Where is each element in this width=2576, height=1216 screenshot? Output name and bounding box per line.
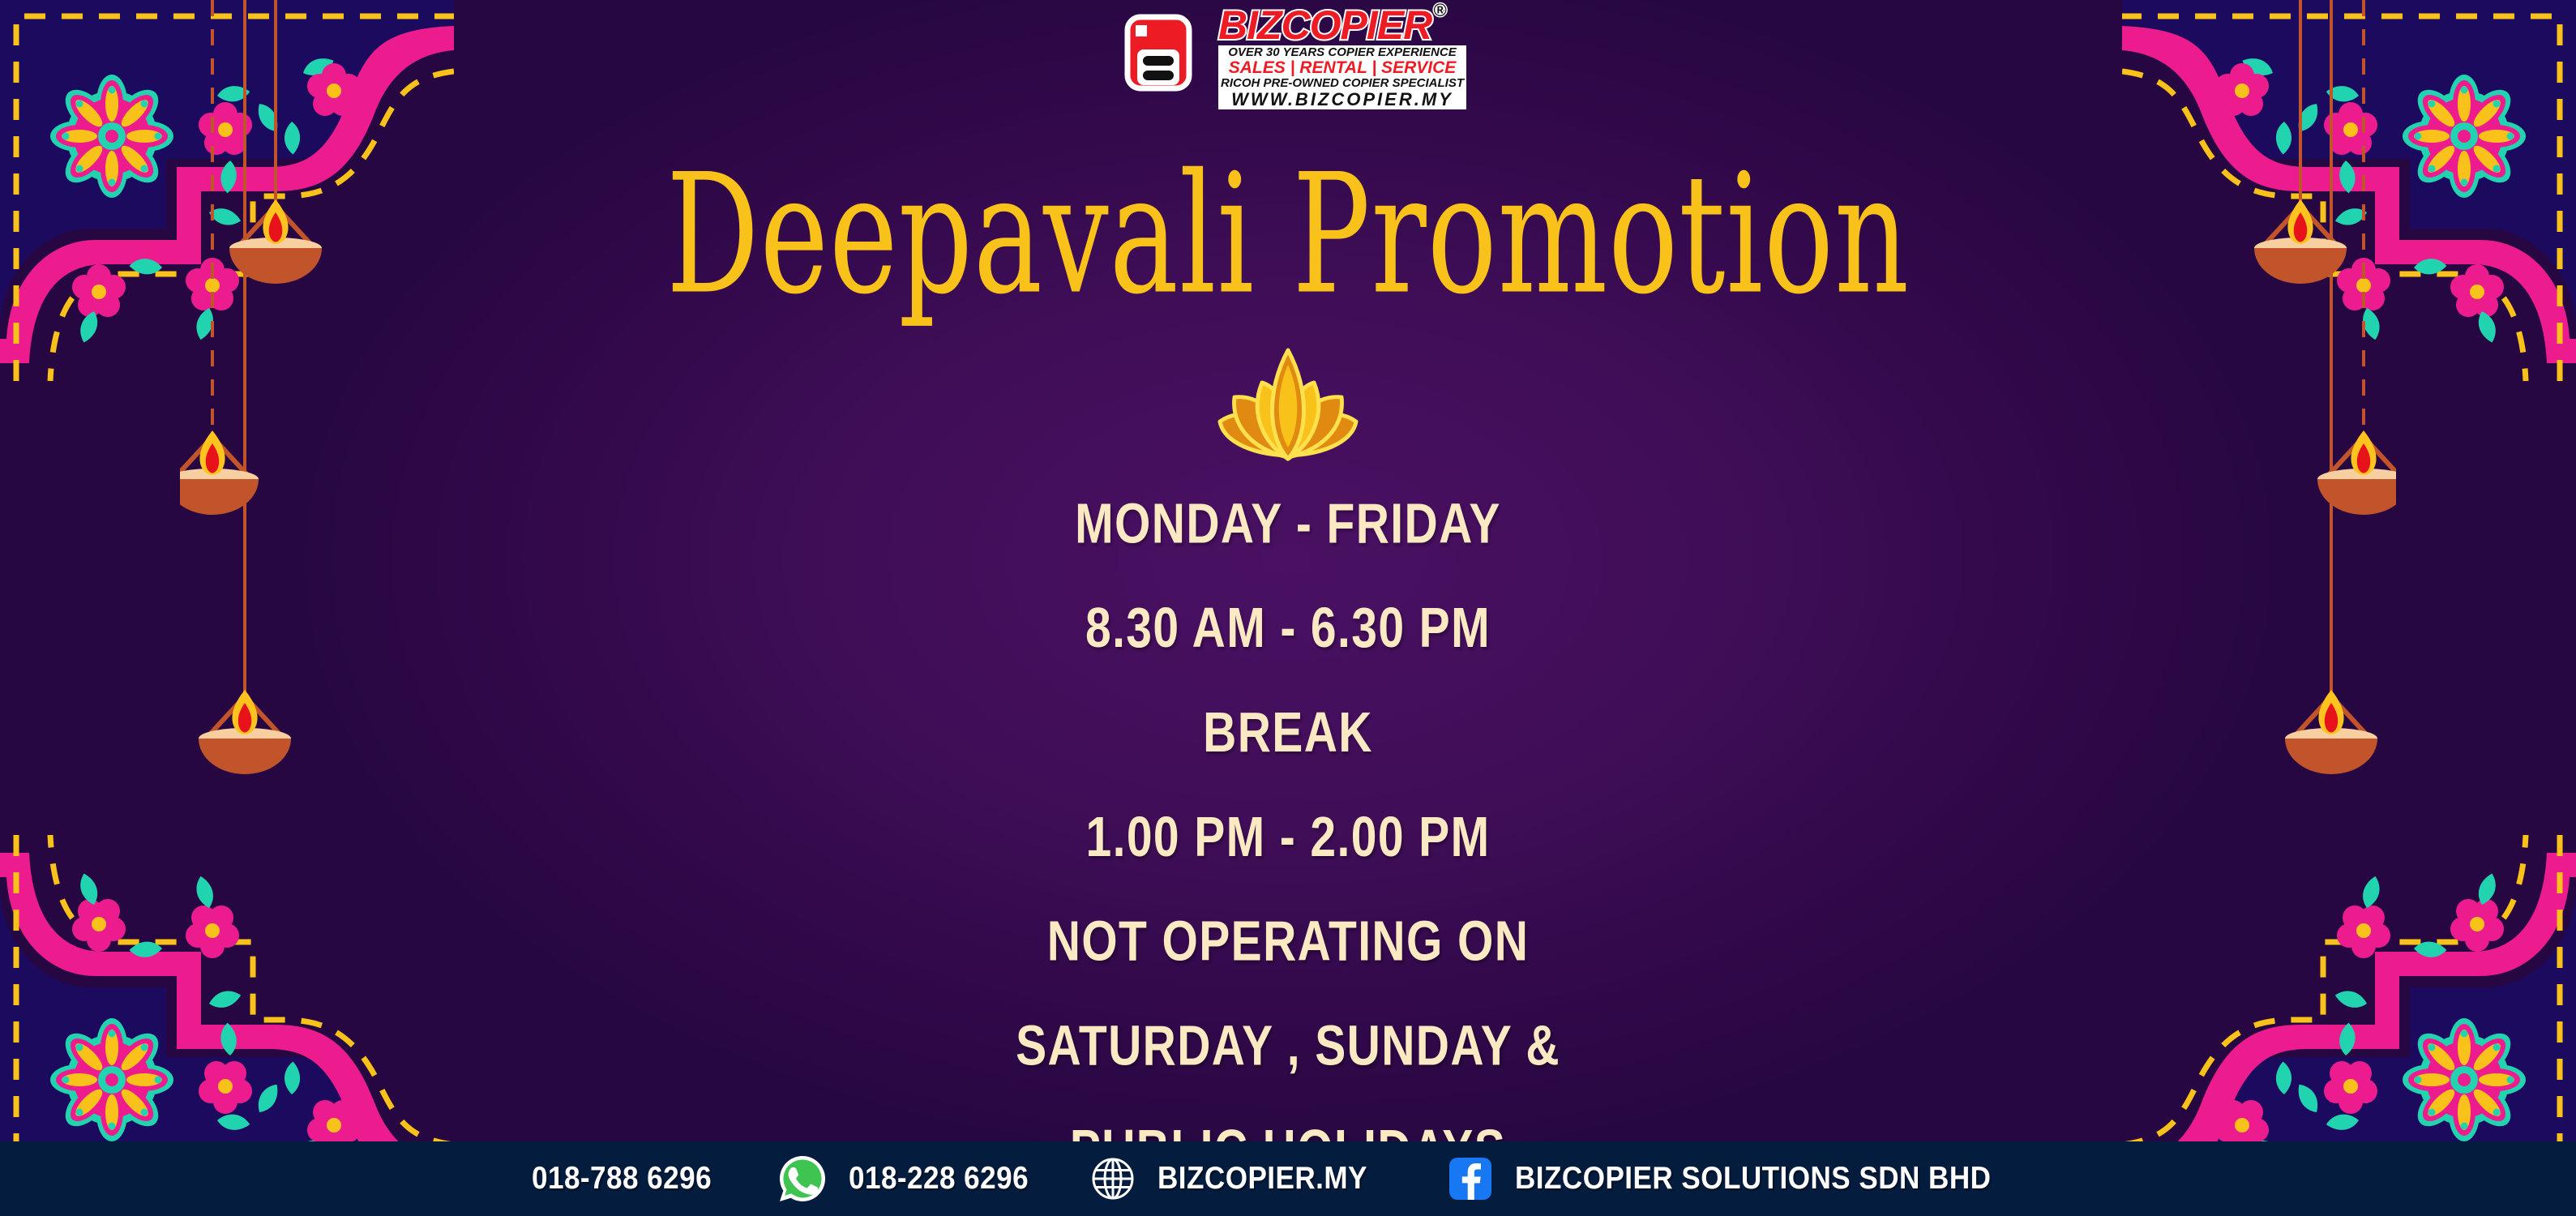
website-contact[interactable]: BIZCOPIER.MY xyxy=(1089,1155,1391,1202)
logo-tagline-specialist: RICOH PRE-OWNED COPIER SPECIALIST xyxy=(1218,76,1466,90)
deepavali-promotion-banner: BIZCOPIER ® OVER 30 YEARS COPIER EXPERIE… xyxy=(0,0,2576,1216)
lotus-icon xyxy=(1215,344,1361,465)
logo-brand-wordmark: BIZCOPIER ® xyxy=(1218,5,1466,45)
logo-website: WWW.BIZCOPIER.MY xyxy=(1218,90,1466,109)
whatsapp-icon xyxy=(777,1154,828,1204)
info-line-closed-intro: NOT OPERATING ON xyxy=(103,889,2473,994)
operating-hours-block: MONDAY - FRIDAY 8.30 AM - 6.30 PM BREAK … xyxy=(103,472,2473,1203)
info-line-break-hours: 1.00 PM - 2.00 PM xyxy=(103,785,2473,889)
facebook-contact[interactable]: BIZCOPIER SOLUTIONS SDN BHD xyxy=(1447,1155,2044,1202)
phone-contact[interactable]: 018-788 6296 xyxy=(532,1161,732,1197)
page-title: Deepavali Promotion xyxy=(77,152,2498,318)
copier-icon xyxy=(1110,9,1207,106)
info-line-closed-days: SATURDAY , SUNDAY & xyxy=(103,994,2473,1098)
bizcopier-logo[interactable]: BIZCOPIER ® OVER 30 YEARS COPIER EXPERIE… xyxy=(1110,5,1466,109)
info-line-weekdays: MONDAY - FRIDAY xyxy=(103,472,2473,576)
contact-footer-bar: 018-788 6296 018-228 6296 xyxy=(0,1141,2576,1216)
logo-tagline-services: SALES | RENTAL | SERVICE xyxy=(1218,59,1466,76)
whatsapp-contact[interactable]: 018-228 6296 xyxy=(777,1154,1049,1204)
website-url: BIZCOPIER.MY xyxy=(1157,1161,1367,1197)
facebook-icon xyxy=(1447,1155,1494,1202)
info-line-break-label: BREAK xyxy=(103,681,2473,786)
globe-icon xyxy=(1089,1155,1136,1202)
logo-brand-text: BIZCOPIER xyxy=(1218,5,1431,45)
phone-number: 018-788 6296 xyxy=(532,1161,712,1197)
facebook-page-name: BIZCOPIER SOLUTIONS SDN BHD xyxy=(1515,1161,1991,1197)
whatsapp-number: 018-228 6296 xyxy=(849,1161,1029,1197)
registered-trademark-icon: ® xyxy=(1433,2,1445,19)
info-line-weekday-hours: 8.30 AM - 6.30 PM xyxy=(103,576,2473,681)
